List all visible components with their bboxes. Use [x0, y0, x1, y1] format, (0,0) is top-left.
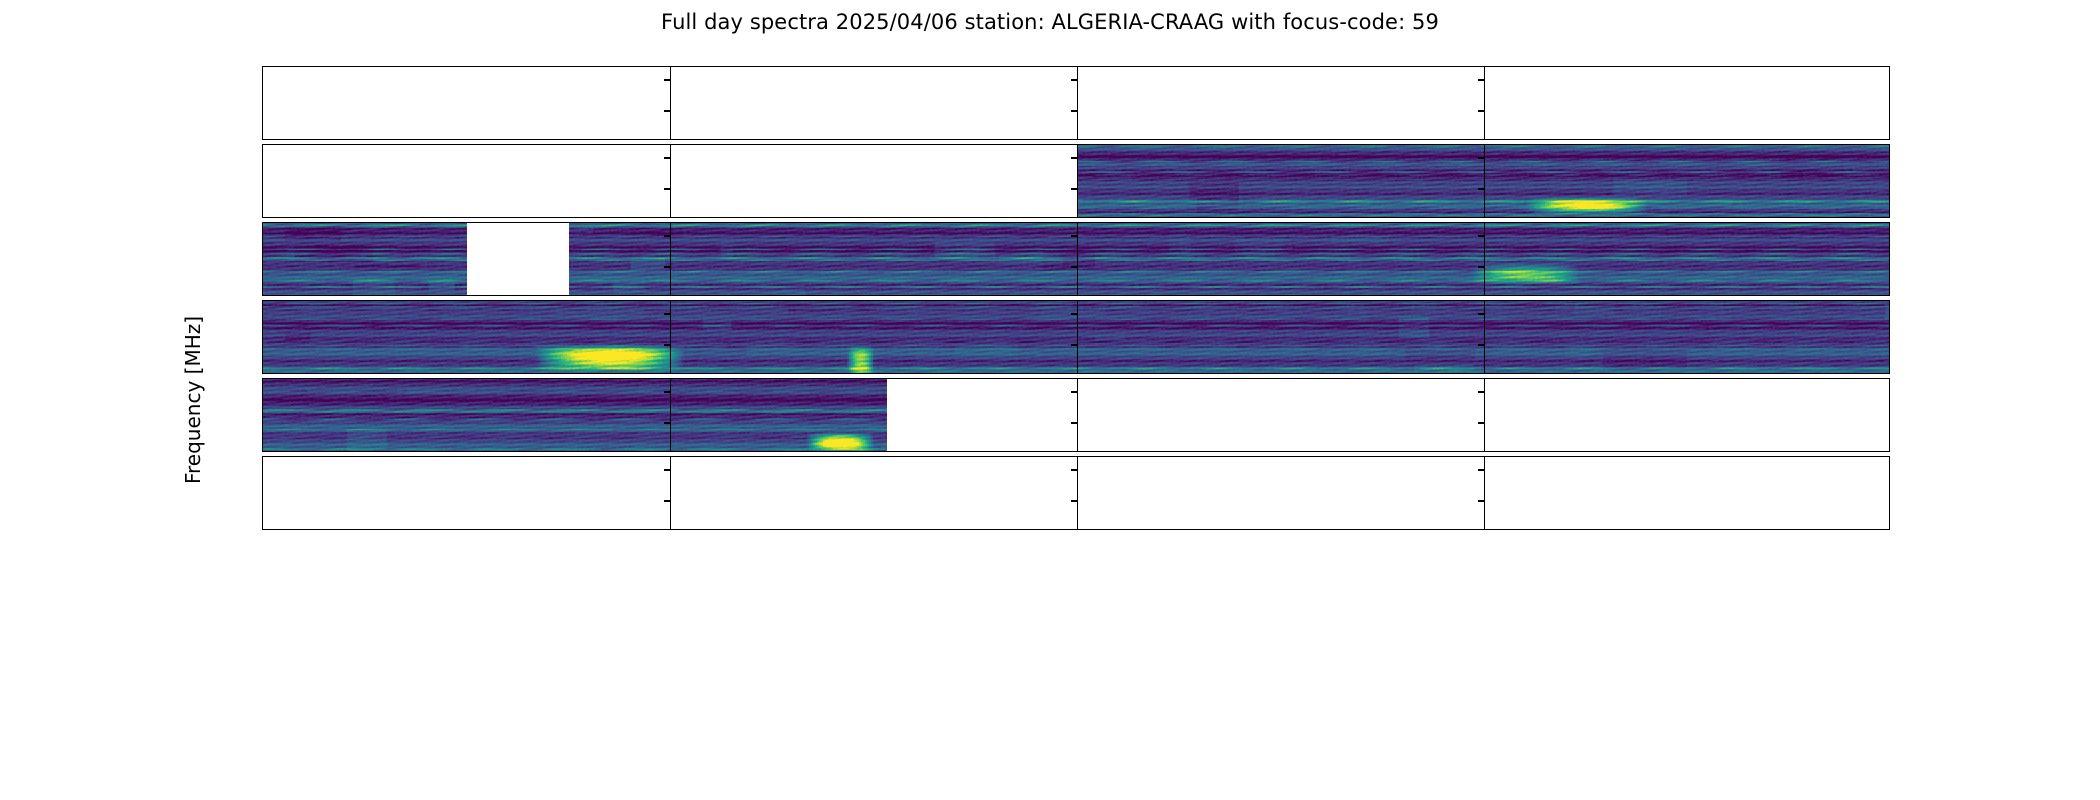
- y-axis-label: Frequency [MHz]: [178, 0, 208, 800]
- hour-separator: [670, 301, 671, 373]
- inner-y-tick: [1478, 313, 1484, 314]
- y-axis-tick: [262, 500, 263, 501]
- inner-y-tick: [1478, 235, 1484, 236]
- y-axis-tick: [262, 110, 263, 111]
- inner-y-tick: [1478, 110, 1484, 111]
- inner-y-tick: [1478, 422, 1484, 423]
- hour-separator: [1077, 301, 1078, 373]
- inner-y-tick: [664, 110, 670, 111]
- inner-y-tick: [664, 422, 670, 423]
- x-axis-tick: [568, 529, 569, 530]
- y-axis-tick: [262, 235, 263, 236]
- hour-separator: [670, 67, 671, 139]
- inner-y-tick: [1071, 344, 1077, 345]
- spectrogram-row-12-15ut: 5010015012-15UT: [262, 300, 1890, 374]
- y-axis-label-text: Frequency [MHz]: [181, 316, 205, 484]
- inner-y-tick: [664, 188, 670, 189]
- y-axis-tick: [262, 469, 263, 470]
- inner-y-tick: [1071, 266, 1077, 267]
- x-axis-tick: [1280, 529, 1281, 530]
- x-axis-tick: [873, 529, 874, 530]
- hour-separator: [1484, 145, 1485, 217]
- inner-y-tick: [664, 391, 670, 392]
- hour-separator: [1077, 457, 1078, 529]
- y-axis-tick: [262, 313, 263, 314]
- inner-y-tick: [664, 344, 670, 345]
- y-axis-tick: [262, 344, 263, 345]
- spectrogram-row-16-19ut: 5010015016-19UT: [262, 378, 1890, 452]
- hour-separator: [1484, 457, 1485, 529]
- spectrogram-row-08-11ut: 5010015008-11UT: [262, 222, 1890, 296]
- x-axis-tick: [262, 529, 263, 530]
- hour-separator: [670, 457, 671, 529]
- inner-y-tick: [1478, 344, 1484, 345]
- spectrogram-image: [263, 223, 1889, 295]
- hour-separator: [1484, 67, 1485, 139]
- inner-y-tick: [664, 157, 670, 158]
- inner-y-tick: [664, 235, 670, 236]
- page-title: Full day spectra 2025/04/06 station: ALG…: [0, 10, 2100, 34]
- x-axis-tick: [1789, 529, 1790, 530]
- hour-separator: [1077, 145, 1078, 217]
- inner-y-tick: [664, 313, 670, 314]
- inner-y-tick: [1478, 188, 1484, 189]
- hour-separator: [1484, 379, 1485, 451]
- x-axis-tick: [1382, 529, 1383, 530]
- hour-separator: [670, 145, 671, 217]
- spectra-figure: Full day spectra 2025/04/06 station: ALG…: [0, 0, 2100, 800]
- x-axis-tick: [1178, 529, 1179, 530]
- inner-y-tick: [1478, 500, 1484, 501]
- inner-y-tick: [1478, 266, 1484, 267]
- inner-y-tick: [1071, 469, 1077, 470]
- x-axis-tick: [1585, 529, 1586, 530]
- inner-y-tick: [664, 500, 670, 501]
- y-axis-tick: [262, 391, 263, 392]
- spectrogram-row-20-23ut: 5010015020-23UT0015304500153045001530450…: [262, 456, 1890, 530]
- x-axis-tick: [975, 529, 976, 530]
- inner-y-tick: [1478, 157, 1484, 158]
- inner-y-tick: [1071, 313, 1077, 314]
- y-axis-tick: [262, 157, 263, 158]
- inner-y-tick: [664, 266, 670, 267]
- inner-y-tick: [1071, 235, 1077, 236]
- hour-separator: [670, 379, 671, 451]
- x-axis-tick: [1483, 529, 1484, 530]
- inner-y-tick: [1071, 188, 1077, 189]
- hour-separator: [1077, 379, 1078, 451]
- x-axis-tick: [364, 529, 365, 530]
- inner-y-tick: [1478, 79, 1484, 80]
- hour-separator: [1077, 223, 1078, 295]
- x-axis-tick: [1687, 529, 1688, 530]
- hour-separator: [1077, 67, 1078, 139]
- inner-y-tick: [1071, 110, 1077, 111]
- inner-y-tick: [1478, 391, 1484, 392]
- spectrogram-row-04-07ut: 5010015004-07UT: [262, 144, 1890, 218]
- spectrogram-image: [263, 379, 1889, 451]
- x-axis-tick: [669, 529, 670, 530]
- x-axis-tick: [466, 529, 467, 530]
- hour-separator: [1484, 301, 1485, 373]
- y-axis-tick: [262, 266, 263, 267]
- y-axis-tick: [262, 422, 263, 423]
- inner-y-tick: [1071, 422, 1077, 423]
- x-axis-tick: [1076, 529, 1077, 530]
- spectrogram-image: [263, 457, 1889, 529]
- spectrogram-image: [263, 145, 1889, 217]
- y-axis-tick: [262, 188, 263, 189]
- hour-separator: [1484, 223, 1485, 295]
- hour-separator: [670, 223, 671, 295]
- y-axis-tick: [262, 79, 263, 80]
- inner-y-tick: [664, 469, 670, 470]
- inner-y-tick: [1071, 157, 1077, 158]
- x-axis-tick: [771, 529, 772, 530]
- inner-y-tick: [664, 79, 670, 80]
- spectrogram-image: [263, 301, 1889, 373]
- spectrogram-row-00-03ut: 5010015000-03UT: [262, 66, 1890, 140]
- inner-y-tick: [1071, 391, 1077, 392]
- inner-y-tick: [1071, 500, 1077, 501]
- inner-y-tick: [1071, 79, 1077, 80]
- spectrogram-image: [263, 67, 1889, 139]
- inner-y-tick: [1478, 469, 1484, 470]
